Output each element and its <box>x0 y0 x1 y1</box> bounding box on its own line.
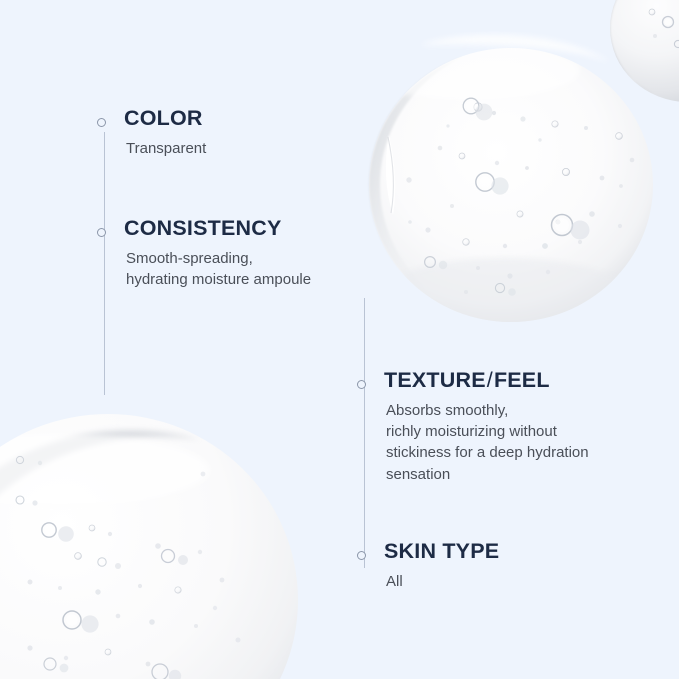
spec-title-skin-type: SKIN TYPE <box>384 539 654 564</box>
bullet-marker-icon <box>97 118 106 127</box>
spec-title-texture-part: TEXTURE <box>384 368 486 392</box>
spec-title-slash: / <box>486 368 494 392</box>
spec-description-consistency: Smooth-spreading, hydrating moisture amp… <box>126 248 394 291</box>
spec-description-color: Transparent <box>126 138 394 159</box>
spec-title-texture-feel: TEXTURE/FEEL <box>384 368 654 393</box>
spec-description-texture-feel: Absorbs smoothly, richly moisturizing wi… <box>386 400 654 485</box>
bottom-gel-droplet <box>0 414 298 679</box>
left-connector-rail <box>104 132 105 395</box>
spec-title-feel-part: FEEL <box>494 368 550 392</box>
bullet-marker-icon <box>357 380 366 389</box>
spec-description-skin-type: All <box>386 571 654 592</box>
spec-title-color: COLOR <box>124 106 394 131</box>
right-connector-rail <box>364 298 365 568</box>
main-gel-droplet <box>360 34 653 342</box>
bullet-marker-icon <box>97 228 106 237</box>
bullet-marker-icon <box>357 551 366 560</box>
corner-gel-droplet <box>606 0 679 102</box>
spec-title-consistency: CONSISTENCY <box>124 216 394 241</box>
product-texture-spec-card: COLOR Transparent CONSISTENCY Smooth-spr… <box>0 0 679 679</box>
